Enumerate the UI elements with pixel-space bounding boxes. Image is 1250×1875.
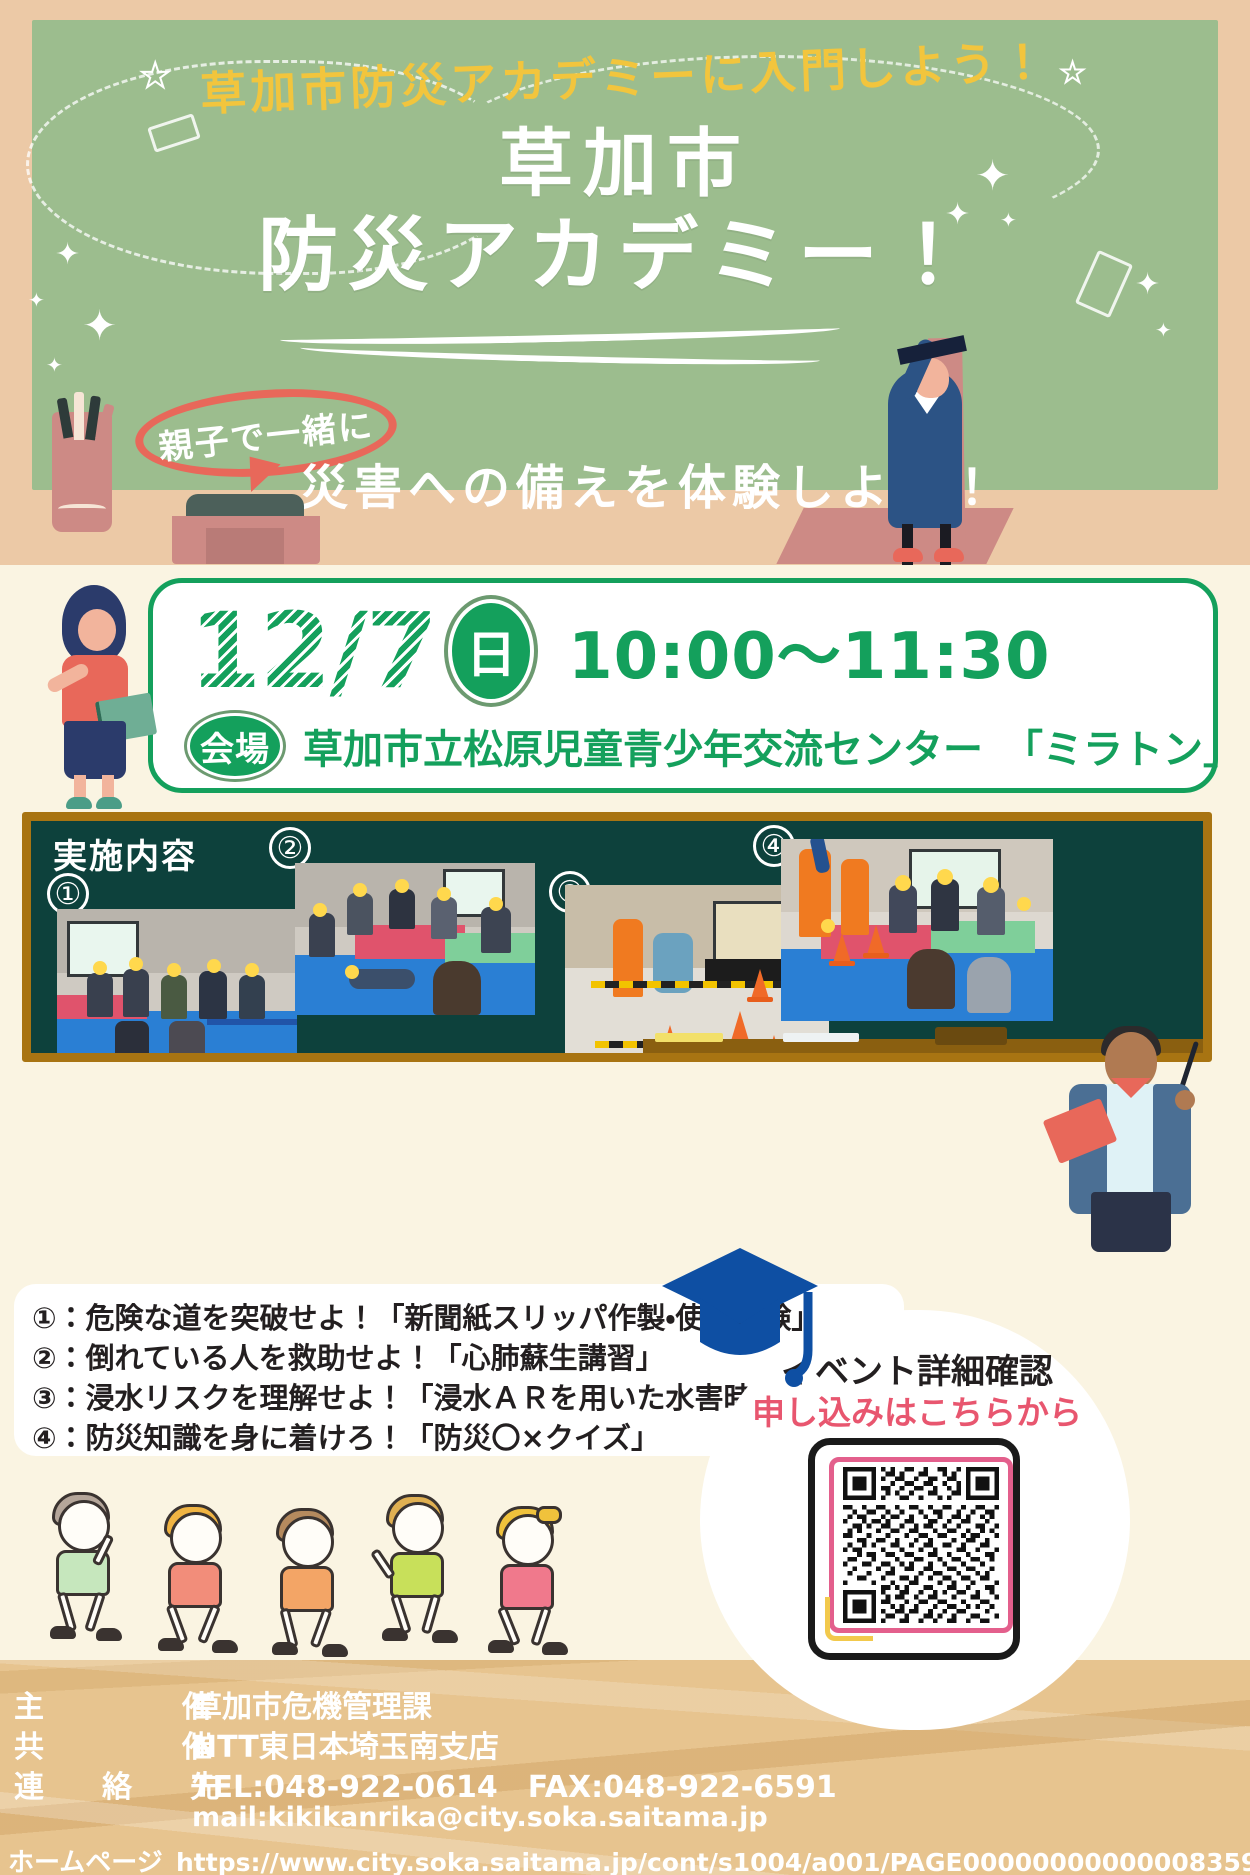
- seated-person: [199, 971, 227, 1019]
- child-head: [170, 1512, 222, 1564]
- running-children-illustration: [40, 1490, 620, 1650]
- smiley-sticker: [437, 887, 451, 901]
- smiley-sticker: [1017, 897, 1031, 911]
- footer-label-coorganizer: 共 催: [14, 1722, 192, 1766]
- woman-skirt: [64, 721, 126, 779]
- traffic-cone-icon: [867, 925, 885, 955]
- traffic-cone-icon: [833, 933, 851, 963]
- man-hand: [1175, 1090, 1195, 1110]
- hero-title-line1: 草加市: [0, 120, 1250, 208]
- child-leg: [421, 1593, 442, 1634]
- child-leg: [309, 1607, 332, 1648]
- footer-value-organizer: 草加市危機管理課: [192, 1682, 432, 1726]
- chalk-icon: [935, 1027, 1007, 1045]
- hero-title: 草加市 防災アカデミー！: [0, 120, 1250, 304]
- traffic-cone-icon: [731, 1011, 749, 1041]
- weekday-badge: 日: [448, 599, 534, 703]
- child-leg: [84, 1591, 106, 1632]
- man-trousers: [1091, 1192, 1171, 1252]
- floor-mat: [295, 955, 535, 1015]
- woman-shoe: [66, 797, 92, 809]
- traffic-cone-icon: [751, 969, 769, 999]
- child-shoe: [382, 1628, 408, 1641]
- footer-row-email: mail:kikikanrika@city.soka.saitama.jp: [14, 1802, 768, 1833]
- sparkle-icon: ✦: [46, 355, 63, 375]
- seated-person: [889, 885, 917, 933]
- chalk-icon: [655, 1033, 723, 1042]
- phone-frame-icon: [808, 1438, 1020, 1660]
- date-row: 12/7 日 10:00〜11:30: [189, 591, 1051, 711]
- footer-value-coorganizer: NTT東日本埼玉南支店: [192, 1722, 499, 1766]
- graduate-figure-shoe: [893, 548, 923, 562]
- smiley-sticker: [895, 875, 911, 891]
- child-shoe: [542, 1642, 568, 1655]
- activities-chalkboard: 実施内容 ① ② ③ ④: [22, 812, 1212, 1062]
- footer-label-contact: 連 絡 先: [14, 1762, 192, 1806]
- sparkle-icon: ✦: [1155, 320, 1172, 340]
- teacher-man-illustration: [1055, 1032, 1225, 1262]
- smiley-sticker: [353, 883, 367, 897]
- child-leg: [530, 1605, 552, 1646]
- child-shoe: [96, 1628, 122, 1641]
- footer-contact-section: 主 催 草加市危機管理課 共 催 NTT東日本埼玉南支店 連 絡 先 TEL:0…: [0, 1660, 1250, 1875]
- hero-title-line2: 防災アカデミー！: [0, 208, 1250, 304]
- seated-person: [239, 975, 265, 1019]
- seated-person: [967, 957, 1011, 1013]
- board-label: 実施内容: [53, 829, 197, 878]
- seated-person: [161, 975, 187, 1019]
- smiley-sticker: [313, 903, 327, 917]
- smiley-sticker: [395, 879, 409, 893]
- smiley-sticker: [345, 965, 359, 979]
- woman-face: [78, 609, 116, 651]
- staff-orange-vest: [841, 859, 869, 935]
- child-body: [500, 1564, 554, 1610]
- seated-person: [931, 879, 959, 931]
- seated-person: [481, 907, 511, 953]
- footer-value-phone-fax: TEL:048-922-0614 FAX:048-922-6591: [192, 1762, 837, 1806]
- seated-person: [347, 893, 373, 935]
- footer-row-coorganizer: 共 催 NTT東日本埼玉南支店: [14, 1722, 499, 1766]
- poster-root: ★ ★ ✦ ✦ ✦ ✦ ✦ ✦ ✦ ✦ ✦ 草加市防災アカデミーに入門しよう！ …: [0, 0, 1250, 1875]
- activity-photo-4: [781, 839, 1053, 1021]
- schedule-card: 12/7 日 10:00〜11:30 会場 草加市立松原児童青少年交流センター …: [148, 578, 1218, 793]
- footer-value-email[interactable]: mail:kikikanrika@city.soka.saitama.jp: [192, 1802, 768, 1833]
- footer-row-organizer: 主 催 草加市危機管理課: [14, 1682, 432, 1726]
- venue-label-badge: 会場: [187, 713, 283, 779]
- smiley-sticker: [821, 919, 835, 933]
- smiley-sticker: [93, 961, 107, 975]
- child-figure-1: [40, 1494, 136, 1644]
- activity-photo-2: [295, 863, 535, 1015]
- footer-value-url[interactable]: https://www.city.soka.saitama.jp/cont/s1…: [176, 1848, 1250, 1875]
- child-shoe: [212, 1640, 238, 1653]
- seated-person: [169, 1021, 205, 1061]
- sparkle-icon: ✦: [82, 305, 117, 347]
- footer-row-homepage: ホームページ https://www.city.soka.saitama.jp/…: [8, 1842, 1250, 1875]
- teacher-woman-illustration: [40, 585, 150, 810]
- child-shoe: [488, 1640, 514, 1653]
- child-body: [168, 1562, 222, 1608]
- seated-person: [433, 961, 481, 1015]
- smiley-sticker: [983, 877, 999, 893]
- smiley-sticker: [937, 869, 953, 885]
- venue-row: 会場 草加市立松原児童青少年交流センター 「ミラトン」: [187, 713, 1243, 779]
- handrail: [207, 1019, 297, 1025]
- child-shoe: [272, 1642, 298, 1655]
- qr-code[interactable]: [839, 1467, 1003, 1623]
- seated-person: [115, 1021, 149, 1061]
- footer-row-contact: 連 絡 先 TEL:048-922-0614 FAX:048-922-6591: [14, 1762, 837, 1806]
- smiley-sticker: [489, 897, 503, 911]
- child-head: [282, 1516, 334, 1568]
- child-shoe: [322, 1644, 348, 1657]
- woman-shoe: [96, 797, 122, 809]
- child-body: [280, 1566, 334, 1612]
- child-figure-5: [484, 1508, 580, 1658]
- child-head: [392, 1502, 444, 1554]
- chalk-icon: [783, 1033, 859, 1042]
- child-body: [390, 1552, 444, 1598]
- seated-person: [907, 949, 955, 1009]
- graduate-figure-shoe: [934, 548, 964, 562]
- child-shoe: [50, 1626, 76, 1639]
- child-shoe: [432, 1630, 458, 1643]
- seated-person: [309, 913, 335, 957]
- child-figure-2: [152, 1506, 248, 1656]
- child-figure-4: [374, 1496, 470, 1646]
- graduation-cap-icon: [660, 1246, 820, 1400]
- event-date: 12/7: [189, 591, 442, 711]
- seated-person: [977, 887, 1005, 935]
- speech-bubble-tail: [241, 457, 280, 498]
- smiley-sticker: [245, 963, 259, 977]
- smiley-sticker: [129, 957, 143, 971]
- child-shoe: [158, 1638, 184, 1651]
- venue-name: 草加市立松原児童青少年交流センター 「ミラトン」: [303, 717, 1243, 775]
- child-leg: [197, 1604, 221, 1645]
- footer-label-organizer: 主 催: [14, 1682, 192, 1726]
- smiley-sticker: [207, 959, 221, 973]
- hair-ribbon-icon: [536, 1506, 562, 1524]
- footer-label-homepage: ホームページ: [8, 1842, 176, 1875]
- activity-photo-1: [57, 909, 297, 1061]
- seated-person: [431, 897, 457, 939]
- smiley-sticker: [167, 963, 181, 977]
- seated-person: [123, 969, 149, 1017]
- seated-person: [389, 889, 415, 929]
- hero-section: ★ ★ ✦ ✦ ✦ ✦ ✦ ✦ ✦ ✦ ✦ 草加市防災アカデミーに入門しよう！ …: [0, 0, 1250, 565]
- seated-person: [87, 973, 113, 1017]
- event-time: 10:00〜11:30: [568, 605, 1050, 697]
- child-figure-3: [264, 1510, 360, 1660]
- eraser-legs: [206, 528, 284, 564]
- pen-icon: [74, 392, 84, 440]
